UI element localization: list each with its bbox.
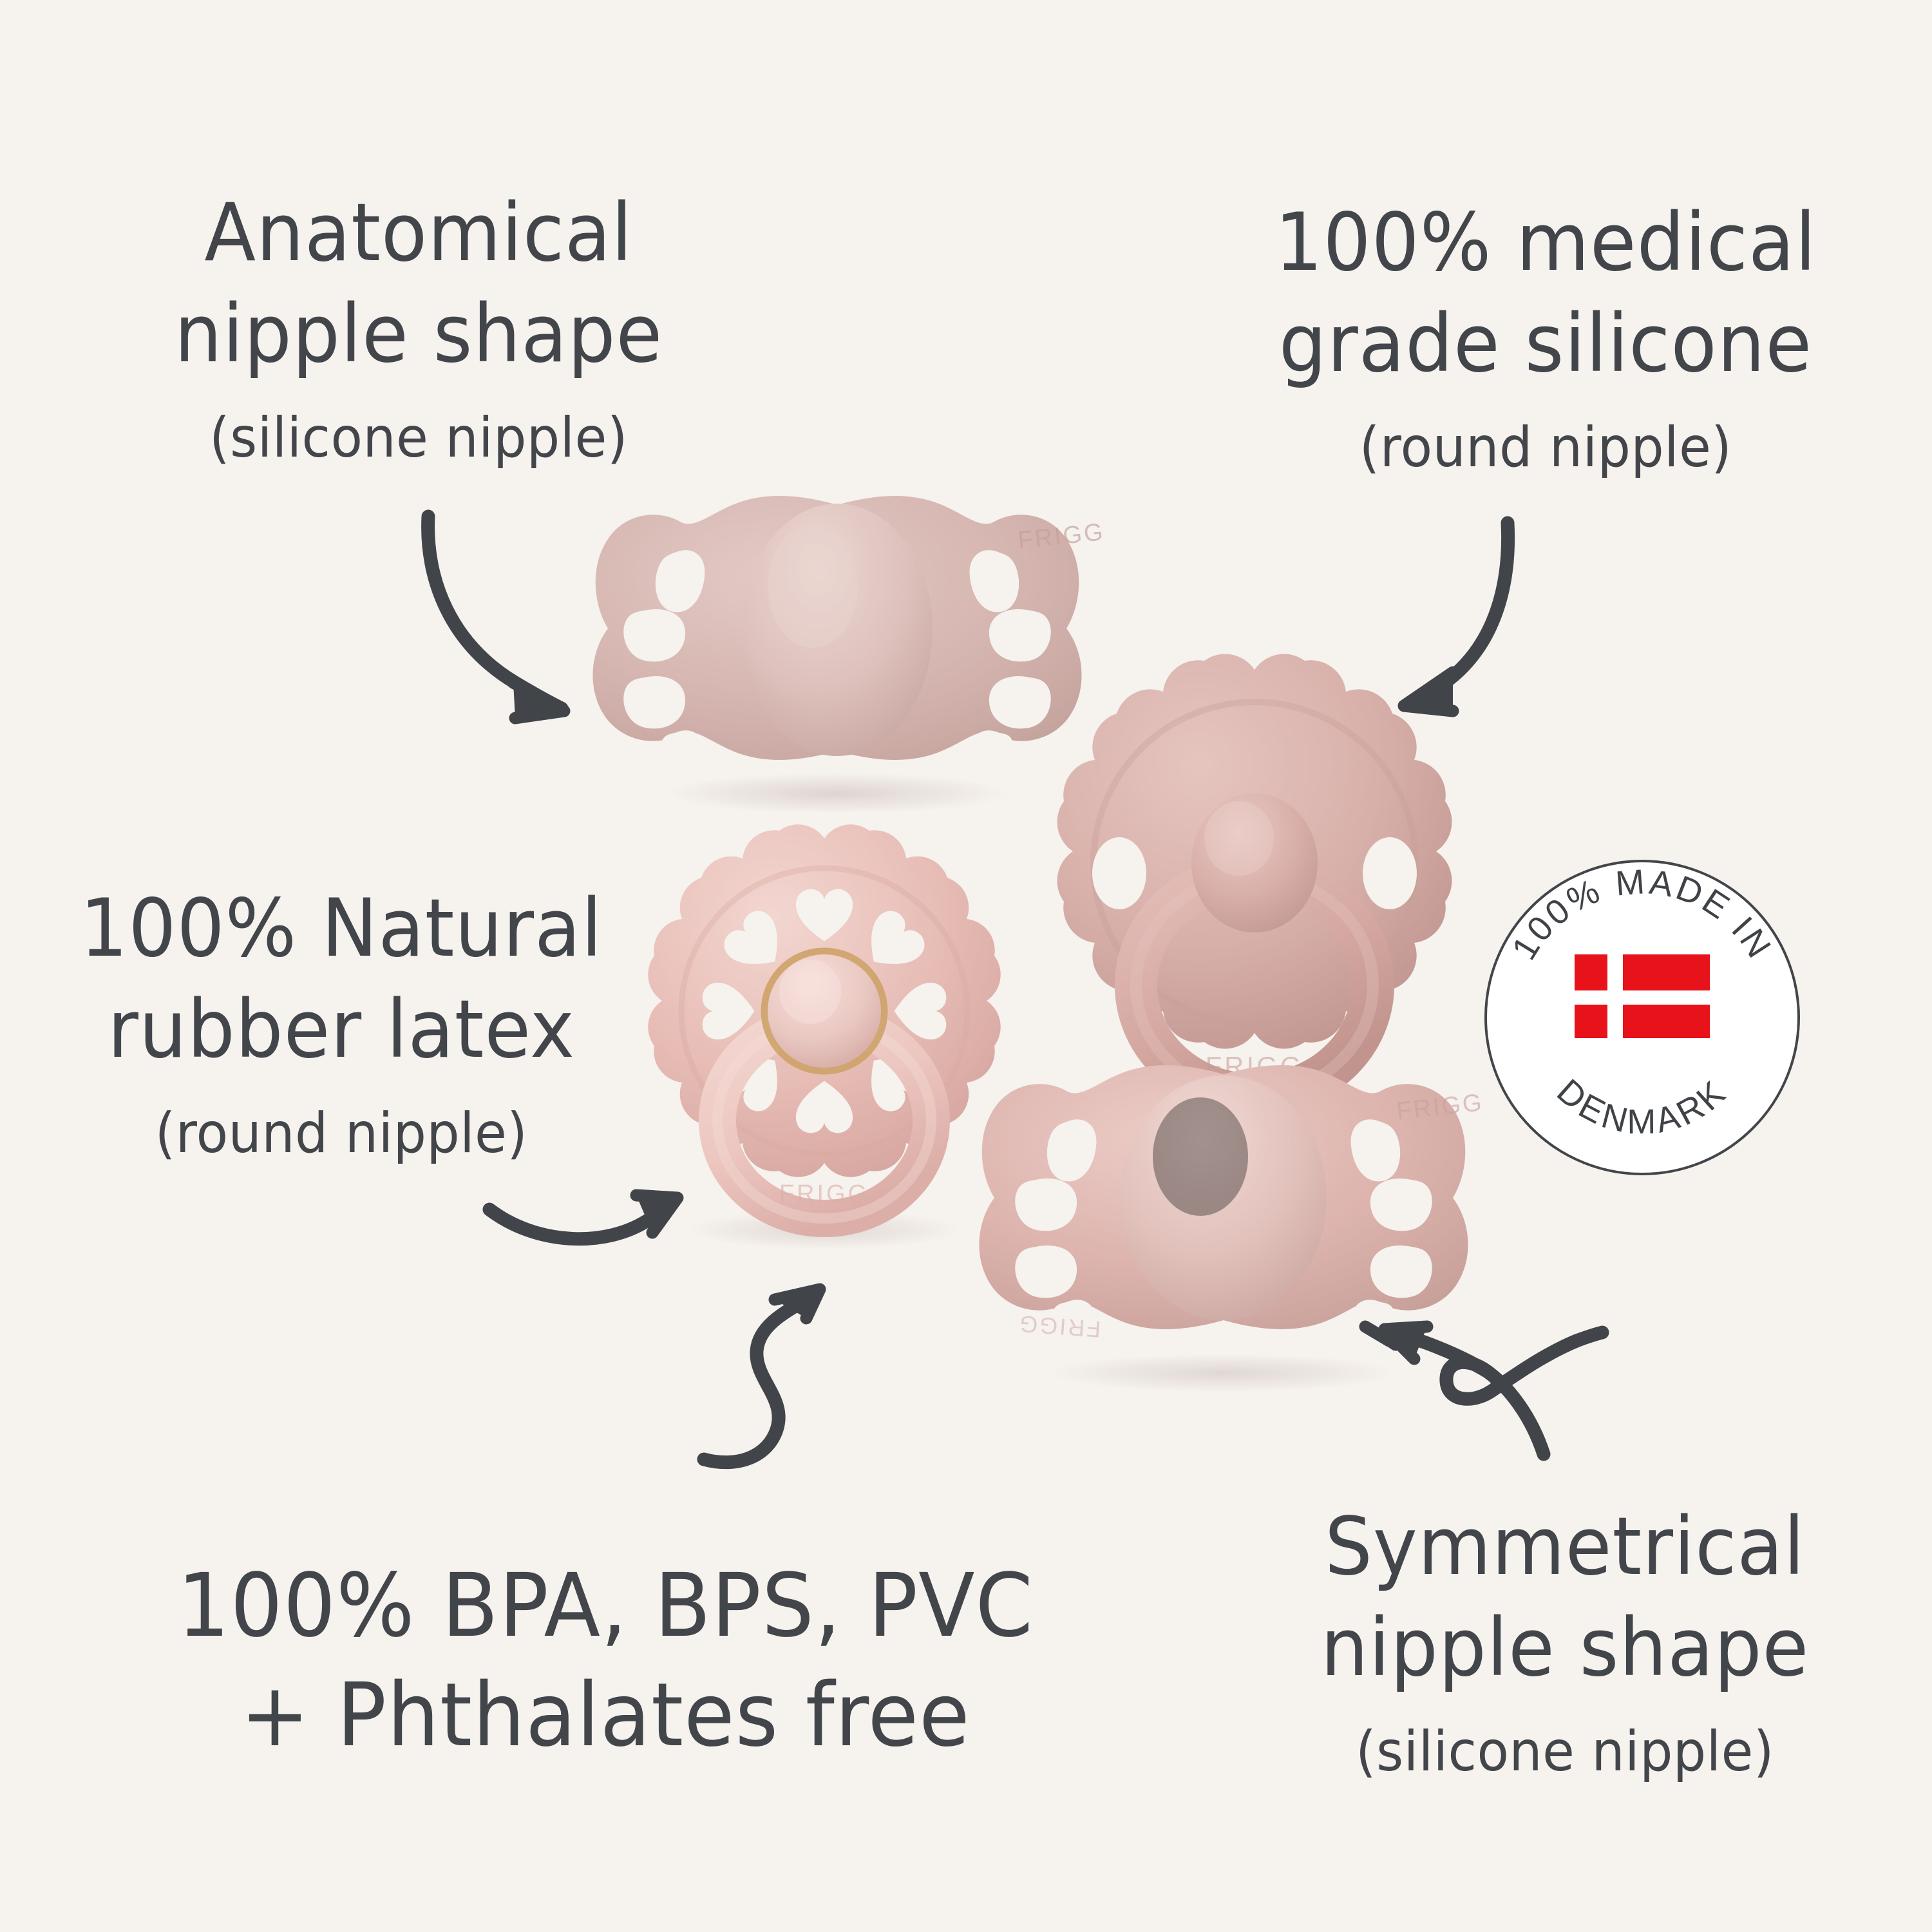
callout-anatomical: Anatomical nipple shape (silicone nipple… xyxy=(97,177,741,481)
callout-symmetric-line2: nipple shape xyxy=(1262,1604,1868,1693)
product-symmetrical-butterfly-pacifier: FRIGG FRIGG xyxy=(953,1043,1494,1391)
callout-latex: 100% Natural rubber latex (round nipple) xyxy=(26,873,657,1177)
callout-latex-line2: rubber latex xyxy=(44,985,638,1075)
infographic-canvas: FRIGG xyxy=(0,0,1932,1932)
callout-bpa-free: 100% BPA, BPS, PVC + Phthalates free xyxy=(77,1546,1133,1776)
callout-latex-line1: 100% Natural xyxy=(44,884,638,974)
arrow-anatomical xyxy=(428,516,564,718)
callout-latex-sub: (round nipple) xyxy=(44,1103,638,1164)
callout-symmetric-sub: (silicone nipple) xyxy=(1262,1721,1868,1783)
callout-symmetric-line1: Symmetrical xyxy=(1262,1502,1868,1592)
callout-medical-line2: grade silicone xyxy=(1225,299,1866,389)
callout-medical-line1: 100% medical xyxy=(1225,198,1866,288)
danish-flag-icon xyxy=(1575,954,1710,1038)
denmark-badge-illustration: 100% MADE IN DENMARK xyxy=(1481,857,1803,1179)
callout-medical-sub: (round nipple) xyxy=(1225,417,1866,478)
callout-bpa-line2: + Phthalates free xyxy=(109,1667,1102,1765)
arrow-bpa xyxy=(704,1289,820,1463)
made-in-denmark-badge: 100% MADE IN DENMARK xyxy=(1481,857,1803,1179)
callout-anatomical-sub: (silicone nipple) xyxy=(116,407,721,469)
callout-anatomical-line2: nipple shape xyxy=(116,290,721,379)
callout-bpa-line1: 100% BPA, BPS, PVC xyxy=(109,1557,1102,1655)
callout-anatomical-line1: Anatomical xyxy=(116,189,721,278)
callout-symmetrical: Symmetrical nipple shape (silicone nippl… xyxy=(1243,1491,1887,1795)
frigg-emboss-label: FRIGG xyxy=(779,1180,869,1207)
symmetrical-pacifier-illustration: FRIGG FRIGG xyxy=(953,1043,1494,1391)
callout-medical: 100% medical grade silicone (round nippl… xyxy=(1204,187,1887,491)
